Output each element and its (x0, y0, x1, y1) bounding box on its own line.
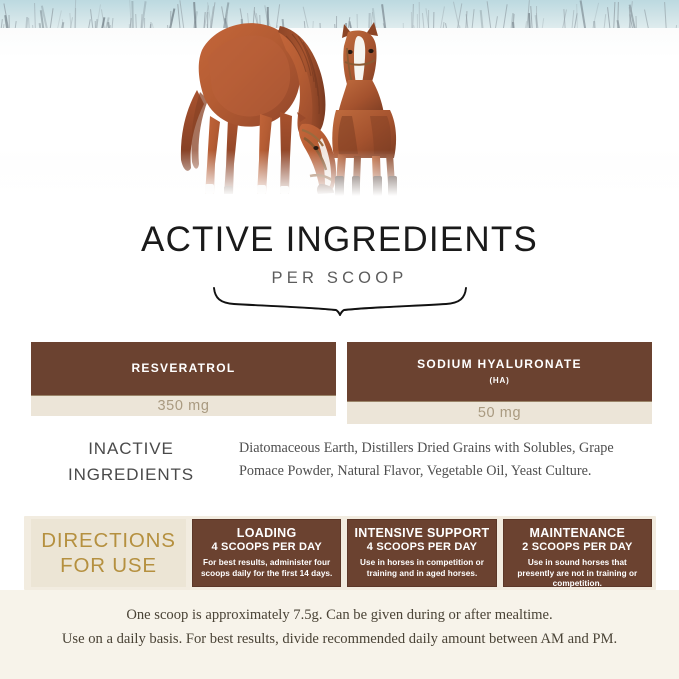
panel-description: Use in horses in competition or training… (354, 558, 489, 579)
panel-title: MAINTENANCE (529, 526, 625, 540)
directions-title-line2: FOR USE (60, 553, 157, 578)
ingredient-amount: 350 mg (31, 396, 336, 416)
snow-shadow-gradient (0, 150, 679, 196)
inactive-ingredients-text: Diatomaceous Earth, Distillers Dried Gra… (231, 434, 652, 489)
ingredient-header: RESVERATROL (31, 342, 336, 396)
ingredient-card-resveratrol: RESVERATROL 350 mg (31, 342, 336, 424)
directions-title-line1: DIRECTIONS (41, 528, 175, 553)
active-ingredients-row: RESVERATROL 350 mg SODIUM HYALURONATE (H… (31, 342, 652, 424)
footer-line-2: Use on a daily basis. For best results, … (0, 628, 679, 652)
footer-note: One scoop is approximately 7.5g. Can be … (0, 604, 679, 651)
ingredient-abbreviation: (HA) (489, 376, 509, 385)
ingredient-name: SODIUM HYALURONATE (417, 358, 582, 371)
panel-title: INTENSIVE SUPPORT (355, 526, 490, 540)
panel-dose: 4 SCOOPS PER DAY (367, 541, 477, 554)
directions-panel-loading: LOADING 4 SCOOPS PER DAY For best result… (192, 519, 341, 587)
panel-description: Use in sound horses that presently are n… (510, 558, 645, 590)
panel-dose: 2 SCOOPS PER DAY (522, 541, 632, 554)
ingredient-name: RESVERATROL (131, 362, 235, 375)
decorative-brace-ornament (0, 286, 679, 316)
directions-for-use-row: DIRECTIONS FOR USE LOADING 4 SCOOPS PER … (31, 519, 652, 587)
product-label-page: ACTIVE INGREDIENTS PER SCOOP RESVERATROL… (0, 0, 679, 679)
inactive-label-line1: INACTIVE (31, 436, 231, 462)
panel-dose: 4 SCOOPS PER DAY (211, 541, 321, 554)
ingredient-amount: 50 mg (347, 402, 652, 424)
panel-title: LOADING (237, 526, 297, 540)
hero-photo-horses (0, 0, 679, 196)
brace-icon (210, 286, 470, 316)
inactive-ingredients-row: INACTIVE INGREDIENTS Diatomaceous Earth,… (31, 434, 652, 489)
footer-line-1: One scoop is approximately 7.5g. Can be … (0, 604, 679, 628)
ingredient-card-sodium-hyaluronate: SODIUM HYALURONATE (HA) 50 mg (347, 342, 652, 424)
inactive-label-line2: INGREDIENTS (31, 462, 231, 488)
page-title: ACTIVE INGREDIENTS (0, 222, 679, 257)
panel-description: For best results, administer four scoops… (199, 558, 334, 579)
directions-panel-intensive-support: INTENSIVE SUPPORT 4 SCOOPS PER DAY Use i… (347, 519, 496, 587)
title-block: ACTIVE INGREDIENTS PER SCOOP (0, 222, 679, 288)
directions-panel-maintenance: MAINTENANCE 2 SCOOPS PER DAY Use in soun… (503, 519, 652, 587)
directions-title: DIRECTIONS FOR USE (31, 519, 186, 587)
ingredient-header: SODIUM HYALURONATE (HA) (347, 342, 652, 402)
inactive-ingredients-label: INACTIVE INGREDIENTS (31, 434, 231, 489)
